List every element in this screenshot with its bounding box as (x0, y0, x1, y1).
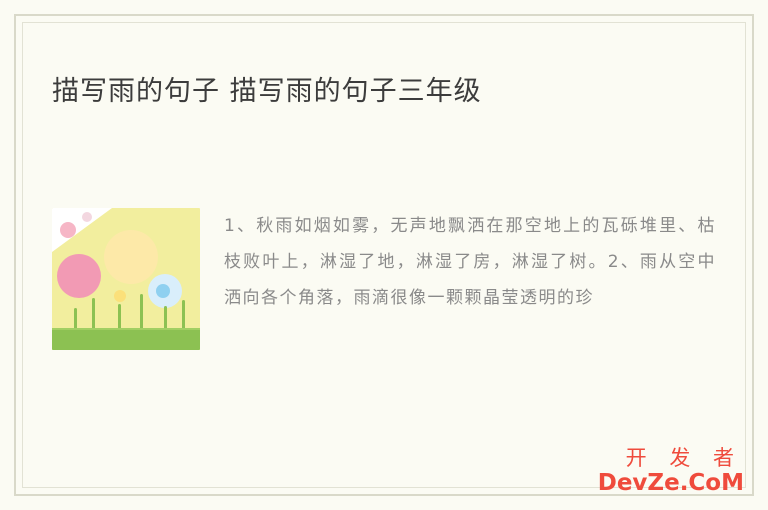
thumbnail-circle-lightpink (82, 212, 92, 222)
watermark-line-1: 开 发 者 (598, 446, 744, 470)
page-title: 描写雨的句子 描写雨的句子三年级 (52, 70, 612, 114)
article-body: 1、秋雨如烟如雾，无声地飘洒在那空地上的瓦砾堆里、枯枝败叶上，淋湿了地，淋湿了房… (52, 208, 716, 350)
thumbnail-grass-blade (140, 294, 143, 332)
thumbnail-circle-pink-small (60, 222, 76, 238)
thumbnail-circle-gold (114, 290, 126, 302)
document-page: 描写雨的句子 描写雨的句子三年级 1、秋雨如烟如雾，无声地 (0, 0, 768, 510)
thumbnail-circle-blue (156, 284, 170, 298)
thumbnail-grass-blade (92, 298, 95, 332)
article-thumbnail-image (52, 208, 200, 350)
watermark-line-2: DevZe.CoM (598, 470, 744, 496)
content-area: 描写雨的句子 描写雨的句子三年级 1、秋雨如烟如雾，无声地 (52, 52, 716, 470)
thumbnail-circle-pink-large (57, 254, 101, 298)
thumbnail-grass-band (52, 330, 200, 350)
site-watermark: 开 发 者 DevZe.CoM (598, 446, 744, 496)
article-paragraph: 1、秋雨如烟如雾，无声地飘洒在那空地上的瓦砾堆里、枯枝败叶上，淋湿了地，淋湿了房… (224, 208, 716, 350)
thumbnail-circle-yellow (104, 230, 158, 284)
